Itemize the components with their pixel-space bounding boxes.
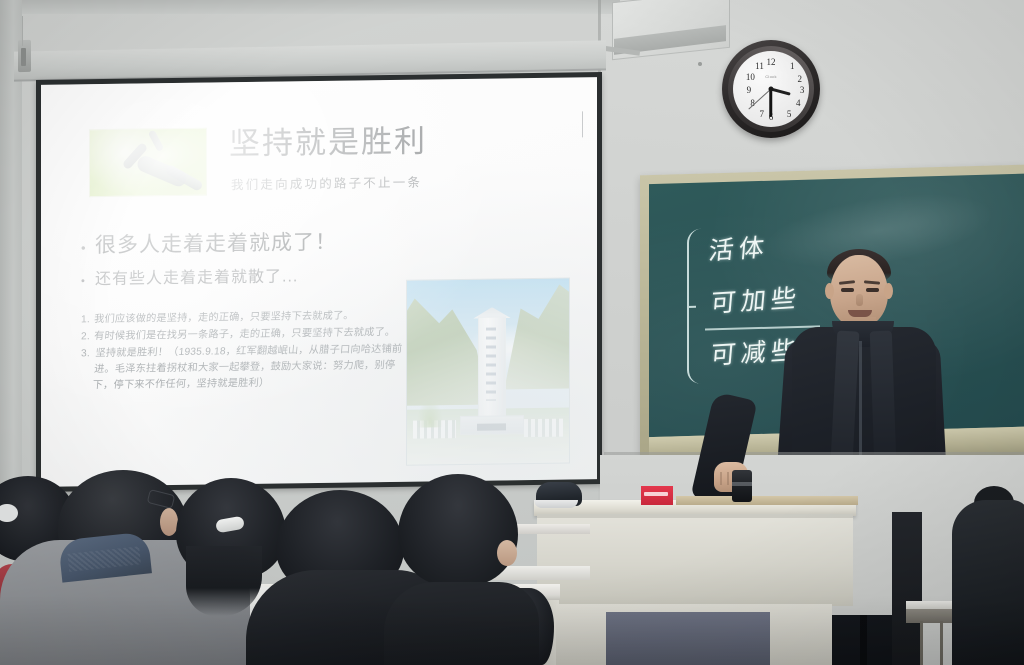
ceiling-strip [0,0,620,14]
student-right-ear [497,540,517,566]
wall-screw [698,62,702,66]
student-right-head [398,474,518,586]
bullet-text: 很多人走着走着就成了！ [95,226,337,259]
clock-number-12: 12 [765,57,777,67]
presentation-slide: 坚持就是胜利 我们走向成功的路子不止一条 • 很多人走着走着就成了！ • 还有些… [41,77,597,487]
classroom-photo: 12 1 2 3 4 5 6 7 8 9 10 11 Clock [0,0,1024,665]
note-text: 坚持就是胜利！（1935.9.18，红军翻越岷山，从腊子口向哈达铺前进。毛泽东拄… [92,342,403,394]
podium-edge-shadow [537,514,853,518]
clock-hour-hand [771,88,791,96]
clock-brand-label: Clock [765,74,777,79]
floor-line [604,452,1024,455]
slide-right-image [406,277,570,465]
teacher-eye-right [866,288,879,292]
finger-1 [720,472,722,485]
note-number: 1. [81,312,94,328]
clock-number-10: 10 [744,72,756,82]
clock-number-5: 5 [783,109,795,119]
thumb-shape-4 [148,129,165,152]
clock-number-11: 11 [754,61,766,71]
note-item: 3. 坚持就是胜利！（1935.9.18，红军翻越岷山，从腊子口向哈达铺前进。毛… [81,342,401,394]
cup-band [732,482,752,486]
roller-cord [22,16,23,46]
red-box [641,486,673,505]
note-number: 2. [81,329,94,345]
chalk-line-1: 活体 [707,228,770,268]
chalk-brace [687,228,707,384]
clock-minute-hand [770,89,773,117]
cap-brim [534,500,578,508]
teacher-eye-left [841,288,854,292]
roller-bracket [18,40,31,72]
teacher-ear-right [884,283,893,299]
screen-seam [582,111,583,137]
clock-face: 12 1 2 3 4 5 6 7 8 9 10 11 Clock [733,51,809,127]
finger-2 [727,472,729,485]
photo-projection-washout [407,279,569,465]
podium-ledge [676,496,858,505]
clock-number-2: 2 [794,74,806,84]
teacher-nose [856,294,863,306]
slide-title: 坚持就是胜利 [229,115,427,163]
projection-screen: 坚持就是胜利 我们走向成功的路子不止一条 • 很多人走着走着就成了！ • 还有些… [36,72,602,492]
podium-dark-panel [606,612,770,665]
clock-number-7: 7 [756,109,768,119]
slide-handwritten-notes: 1. 我们应该做的是坚持，走的正确，只要坚持下去就成了。 2. 有时候我们是在找… [81,308,401,395]
teacher-lapel-right [870,331,897,462]
clock-center-pin [769,87,774,92]
wall-clock: 12 1 2 3 4 5 6 7 8 9 10 11 Clock [722,40,820,138]
side-student-body [952,500,1024,665]
clock-number-3: 3 [796,85,808,95]
clock-number-1: 1 [786,61,798,71]
slide-subtitle: 我们走向成功的路子不止一条 [231,172,422,194]
red-box-label [644,492,668,496]
clock-number-9: 9 [743,85,755,95]
black-cup [732,470,752,502]
slide-left-image [89,128,207,198]
bullet-text: 还有些人走着走着就散了... [95,262,298,289]
bullet-marker: • [81,276,95,287]
student-right-body [384,582,539,665]
teacher-ear-left [825,283,834,299]
teacher-mouth [848,310,872,317]
clock-number-4: 4 [792,98,804,108]
bullet-marker: • [81,241,95,254]
projection-screen-surface: 坚持就是胜利 我们走向成功的路子不止一条 • 很多人走着走着就成了！ • 还有些… [41,77,597,487]
person-leg-right [892,512,922,665]
